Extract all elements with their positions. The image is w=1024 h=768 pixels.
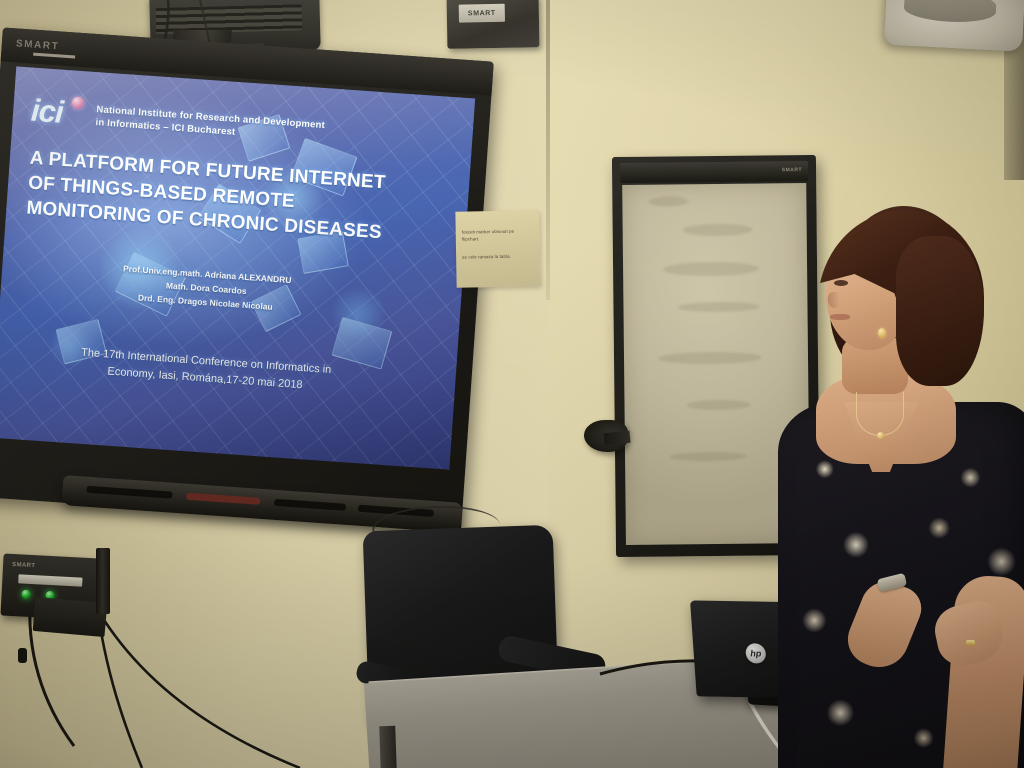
slide-org-name: National Institute for Research and Deve… (95, 103, 325, 145)
ici-logo-dot-icon (72, 96, 85, 109)
pen-slot-red (186, 493, 260, 505)
wall-notice-sign: folositi marker obisnuit pe flipchart. s… (455, 210, 540, 287)
slide-content: ici National Institute for Research and … (0, 66, 475, 469)
ici-logo-text: ici (30, 93, 64, 130)
presenter-eye (834, 280, 848, 286)
pen-slot (274, 499, 346, 511)
flipchart-brand-label: SMART (782, 167, 802, 173)
control-box-brand-label: SMART (12, 562, 36, 569)
slide-authors: Prof.Univ.eng.math. Adriana ALEXANDRU Ma… (18, 254, 444, 325)
hp-logo-icon: hp (745, 643, 766, 663)
presenter-ring (966, 640, 975, 646)
presenter-necklace (856, 392, 904, 436)
smartboard-brand-underline (33, 53, 75, 59)
smartboard[interactable]: SMART ici National Insti (0, 27, 494, 530)
wall-notice-line3: se cele ramasa la tabla. (462, 252, 534, 260)
presenter-hair-side (896, 236, 984, 386)
table-leg (379, 726, 397, 768)
presenter-earring (878, 328, 886, 338)
slide-conference-info: The 17th International Conference on Inf… (13, 340, 438, 403)
flipchart-clamp: SMART (620, 161, 808, 183)
presentation-room-scene: SMART SMART (0, 0, 1024, 768)
status-led-power (21, 590, 30, 599)
ici-logo-icon: ici (30, 94, 88, 134)
smartboard-brand-label: SMART (15, 38, 59, 52)
presenter (770, 196, 1024, 768)
pen-slot (86, 486, 172, 499)
control-box-strip (18, 574, 82, 586)
presenter-lips (830, 314, 850, 320)
flipchart-stand-post (96, 548, 110, 614)
ceiling-speaker-icon (884, 0, 1024, 52)
slide-title: A PLATFORM FOR FUTURE INTERNET OF THINGS… (24, 146, 452, 250)
wall-notice-line2: flipchart. (462, 234, 534, 242)
projected-slide: ici National Institute for Research and … (0, 66, 475, 469)
presenter-nose (828, 292, 840, 308)
